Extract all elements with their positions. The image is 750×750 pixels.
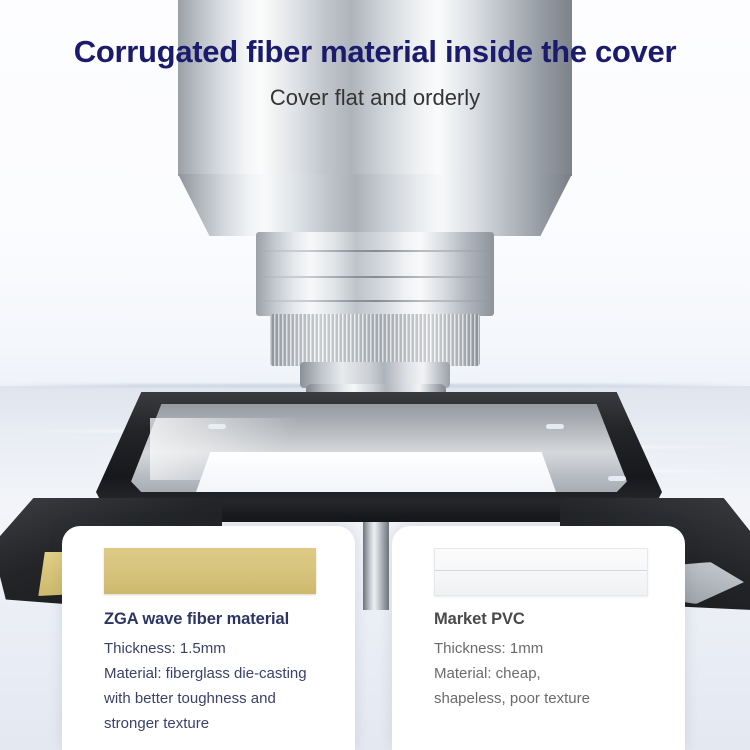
press-knurled-ring <box>270 314 480 366</box>
info-card-pvc: Market PVC Thickness: 1mm Material: chea… <box>392 526 685 750</box>
page-headline: Corrugated fiber material inside the cov… <box>0 34 750 70</box>
card-title: Market PVC <box>434 610 525 629</box>
card-spec-line: shapeless, poor texture <box>434 686 662 711</box>
material-swatch-pvc <box>434 548 648 596</box>
collar-groove <box>256 250 494 252</box>
card-spec-line: Material: cheap, <box>434 661 662 686</box>
card-title: ZGA wave fiber material <box>104 610 289 629</box>
press-collar <box>256 232 494 316</box>
info-card-zga: ZGA wave fiber material Thickness: 1.5mm… <box>62 526 355 750</box>
card-spec-lines: Thickness: 1mm Material: cheap, shapeles… <box>434 636 662 711</box>
page-subtitle: Cover flat and orderly <box>0 85 750 111</box>
card-spec-line: Material: fiberglass die-casting <box>104 661 332 686</box>
card-spec-line: Thickness: 1mm <box>434 636 662 661</box>
press-taper <box>178 174 572 236</box>
camera-cutout <box>208 424 226 429</box>
card-spec-lines: Thickness: 1.5mm Material: fiberglass di… <box>104 636 332 736</box>
camera-cutout <box>546 424 564 429</box>
collar-groove <box>256 300 494 302</box>
card-spec-line: Thickness: 1.5mm <box>104 636 332 661</box>
card-spec-line: with better toughness and <box>104 686 332 711</box>
product-marketing-image: 80KG ZGA wave fiber material Thickness: … <box>0 0 750 750</box>
material-swatch-gold <box>104 548 316 594</box>
card-spec-line: stronger texture <box>104 711 332 736</box>
collar-groove <box>256 276 494 278</box>
case-inner-sheet <box>196 452 556 492</box>
camera-cutout <box>608 476 626 481</box>
